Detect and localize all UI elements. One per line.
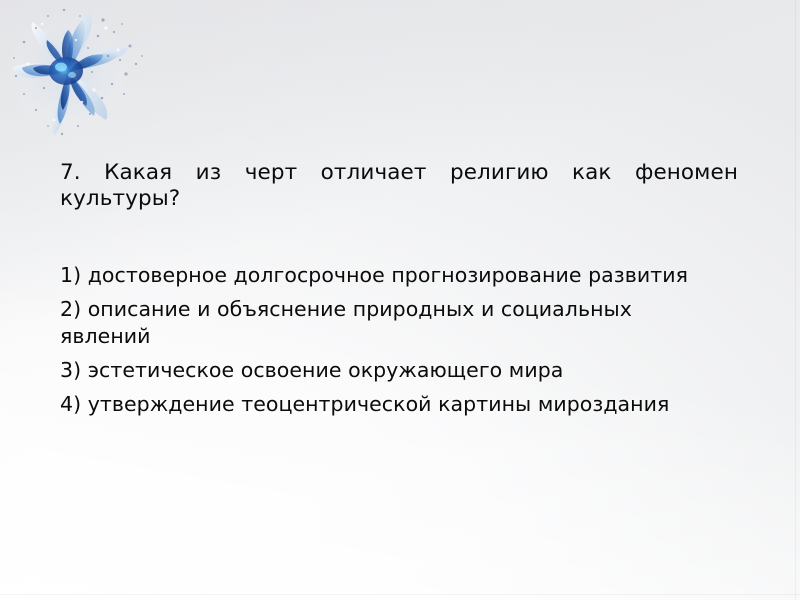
answer-option-4[interactable]: 4) утверждение теоцентрической картины м… [60,391,700,418]
question-line-1: 7. Какая из черт отличает религию как фе… [60,160,738,186]
slide-text-content: 7. Какая из черт отличает религию как фе… [60,160,740,418]
slide-canvas: 7. Какая из черт отличает религию как фе… [0,0,800,600]
question-text: 7. Какая из черт отличает религию как фе… [60,160,738,212]
right-edge-line [795,0,796,600]
question-line-2: культуры? [60,186,738,212]
question-options-spacer [60,212,740,262]
answer-option-3[interactable]: 3) эстетическое освоение окружающего мир… [60,357,700,384]
blue-flower-icon [2,2,157,152]
blue-flower-decoration [2,2,157,152]
answer-option-1[interactable]: 1) достоверное долгосрочное прогнозирова… [60,262,700,289]
bottom-edge-line [0,594,800,595]
answer-options-list: 1) достоверное долгосрочное прогнозирова… [60,262,740,418]
answer-option-2[interactable]: 2) описание и объяснение природных и соц… [60,296,700,350]
